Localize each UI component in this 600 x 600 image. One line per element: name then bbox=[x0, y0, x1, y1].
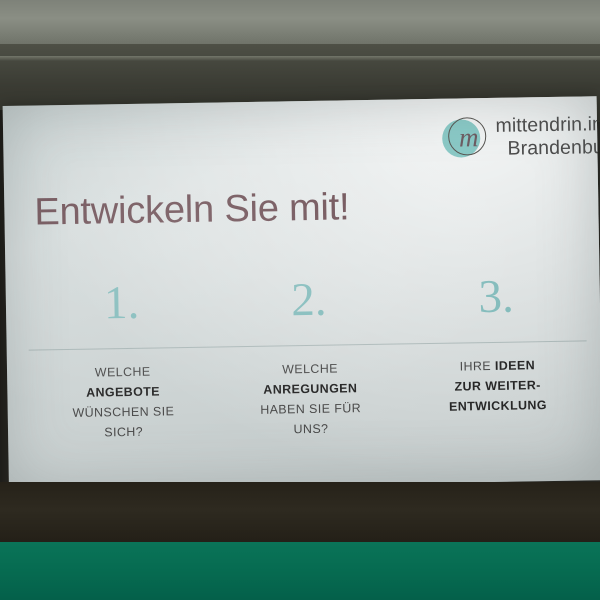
photo-scene: m mittendrin.in Brandenburg Entwickeln S… bbox=[0, 0, 600, 600]
logo-letter-m: m bbox=[450, 118, 487, 157]
column-2: 2. WELCHE ANREGUNGEN HABEN SIE FÜR UNS? bbox=[215, 275, 405, 440]
column-2-caption: WELCHE ANREGUNGEN HABEN SIE FÜR UNS? bbox=[216, 357, 405, 440]
column-1-number: 1. bbox=[28, 279, 216, 344]
column-1-line-1: WELCHE bbox=[95, 365, 151, 380]
column-3-line-3: ENTWICKLUNG bbox=[449, 398, 547, 414]
brand-wordmark: mittendrin.in Brandenburg bbox=[495, 114, 600, 160]
column-3-caption: IHRE IDEEN ZUR WEITER- ENTWICKLUNG bbox=[404, 354, 592, 417]
wall-shadow-line bbox=[0, 56, 600, 61]
column-3-line-2: ZUR WEITER- bbox=[454, 378, 540, 393]
projected-slide: m mittendrin.in Brandenburg Entwickeln S… bbox=[3, 96, 600, 490]
slide-headline: Entwickeln Sie mit! bbox=[34, 186, 350, 234]
brand-name-line2: Brandenburg bbox=[496, 137, 600, 160]
wall-lower-dark-band bbox=[0, 482, 600, 544]
column-1: 1. WELCHE ANGEBOTE WÜNSCHEN SIE SICH? bbox=[28, 279, 218, 444]
column-2-line-2: ANREGUNGEN bbox=[263, 381, 357, 397]
mittendrin-circle-icon: m bbox=[442, 117, 487, 162]
column-3-line-1a: IHRE bbox=[460, 359, 496, 374]
column-2-line-4: UNS? bbox=[293, 422, 328, 437]
column-2-line-3: HABEN SIE FÜR bbox=[260, 401, 361, 417]
column-3-line-1b: IDEEN bbox=[495, 358, 535, 373]
brand-name-line1: mittendrin.in bbox=[495, 114, 600, 137]
column-3: 3. IHRE IDEEN ZUR WEITER- ENTWICKLUNG bbox=[402, 272, 592, 437]
column-2-number: 2. bbox=[215, 275, 403, 340]
column-1-line-3: WÜNSCHEN SIE bbox=[72, 404, 174, 420]
projected-slide-frame: m mittendrin.in Brandenburg Entwickeln S… bbox=[3, 96, 600, 490]
brand-logo: m mittendrin.in Brandenburg bbox=[442, 114, 600, 162]
column-2-line-1: WELCHE bbox=[282, 362, 338, 377]
three-column-list: 1. WELCHE ANGEBOTE WÜNSCHEN SIE SICH? 2.… bbox=[28, 272, 593, 444]
green-floor-band bbox=[0, 542, 600, 600]
column-1-line-2: ANGEBOTE bbox=[86, 385, 160, 400]
column-1-line-4: SICH? bbox=[104, 425, 143, 440]
column-1-caption: WELCHE ANGEBOTE WÜNSCHEN SIE SICH? bbox=[29, 361, 218, 444]
column-3-number: 3. bbox=[402, 272, 590, 337]
wall-upper-band bbox=[0, 0, 600, 46]
